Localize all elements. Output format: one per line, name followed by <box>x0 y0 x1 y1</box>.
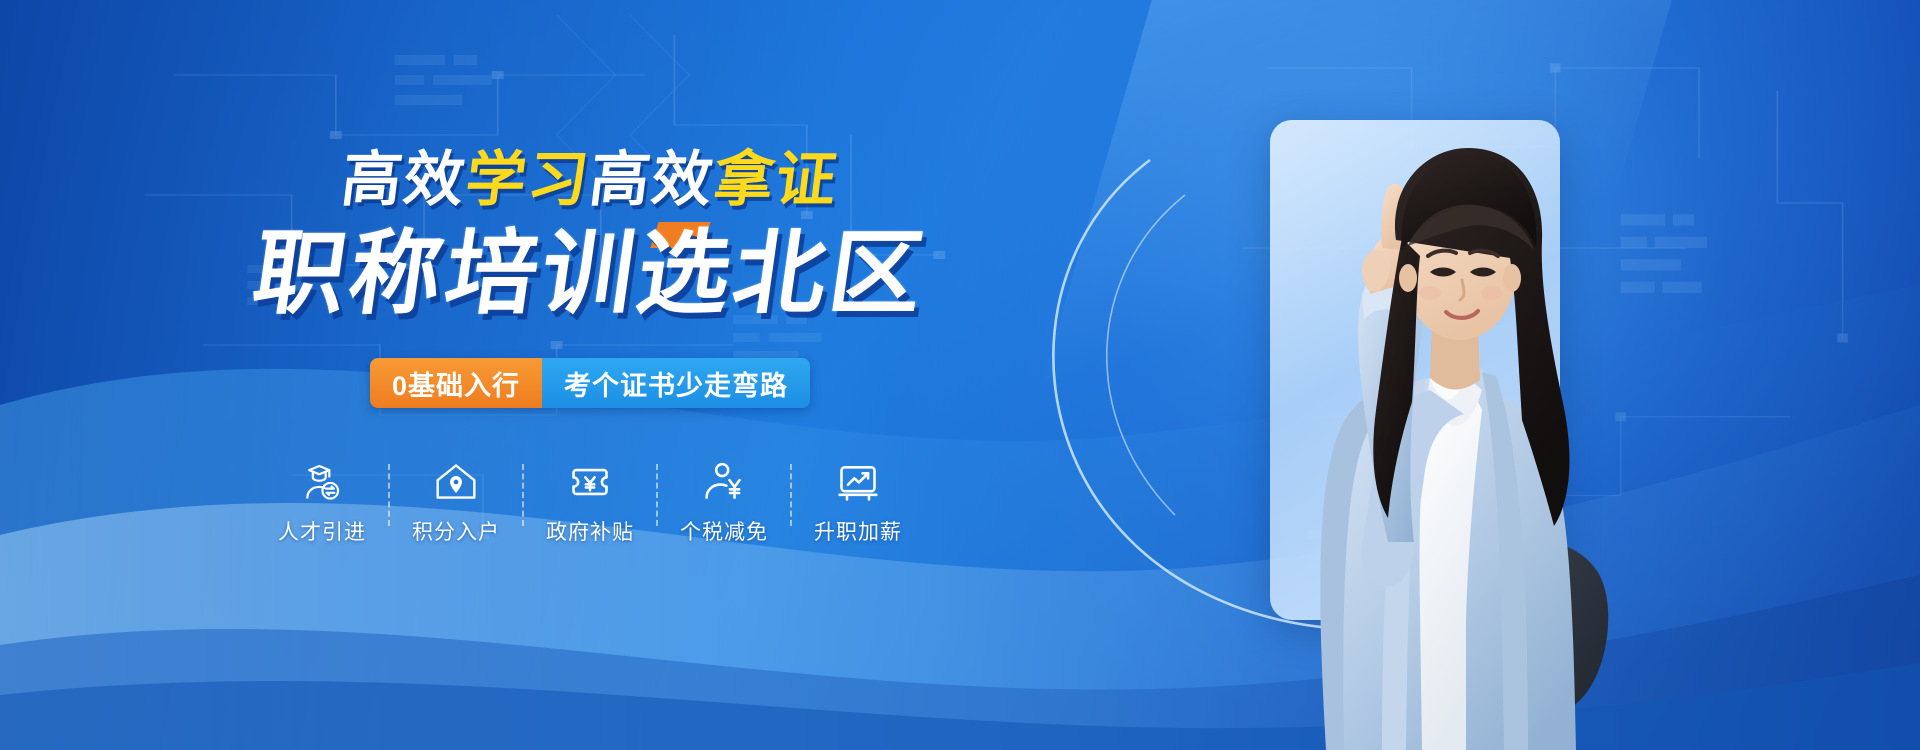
feature-item-tax[interactable]: 个税减免 <box>658 460 790 546</box>
headline-sub-part-4: 拿证 <box>710 145 843 215</box>
hero-visual <box>1100 90 1740 750</box>
tagline-pill-left: 0基础入行 <box>370 358 542 408</box>
growth-chart-icon <box>836 460 880 504</box>
tagline-pill: 0基础入行 考个证书少走弯路 <box>370 358 810 408</box>
feature-list: 人才引进 积分入户 政府补贴 <box>256 460 924 546</box>
feature-label-points: 积分入户 <box>412 516 500 546</box>
feature-label-subsidy: 政府补贴 <box>546 516 634 546</box>
headline-sub-part-3: 高效 <box>586 145 719 215</box>
headline-main-text: 职称培训选北区 <box>247 220 934 327</box>
tagline-pill-right: 考个证书少走弯路 <box>542 358 810 408</box>
feature-item-promotion[interactable]: 升职加薪 <box>792 460 924 546</box>
feature-label-tax: 个税减免 <box>680 516 768 546</box>
promo-banner: 高效学习高效拿证 职称培训选北区 0基础入行 考个证书少走弯路 <box>0 0 1920 750</box>
house-pin-icon <box>434 460 478 504</box>
graduate-exchange-icon <box>300 460 344 504</box>
person-yuan-icon <box>702 460 746 504</box>
feature-item-subsidy[interactable]: 政府补贴 <box>524 460 656 546</box>
headline-sub-part-1: 高效 <box>338 145 471 215</box>
yuan-ticket-icon <box>568 460 612 504</box>
headline-main: 职称培训选北区 <box>248 228 933 320</box>
feature-item-talent[interactable]: 人才引进 <box>256 460 388 546</box>
headline-subtitle: 高效学习高效拿证 <box>338 150 841 210</box>
presenter-photo <box>1130 90 1670 750</box>
feature-item-points[interactable]: 积分入户 <box>390 460 522 546</box>
feature-label-talent: 人才引进 <box>278 516 366 546</box>
headline-sub-part-2: 学习 <box>462 145 595 215</box>
feature-label-promotion: 升职加薪 <box>814 516 902 546</box>
banner-content: 高效学习高效拿证 职称培训选北区 0基础入行 考个证书少走弯路 <box>0 0 1180 750</box>
